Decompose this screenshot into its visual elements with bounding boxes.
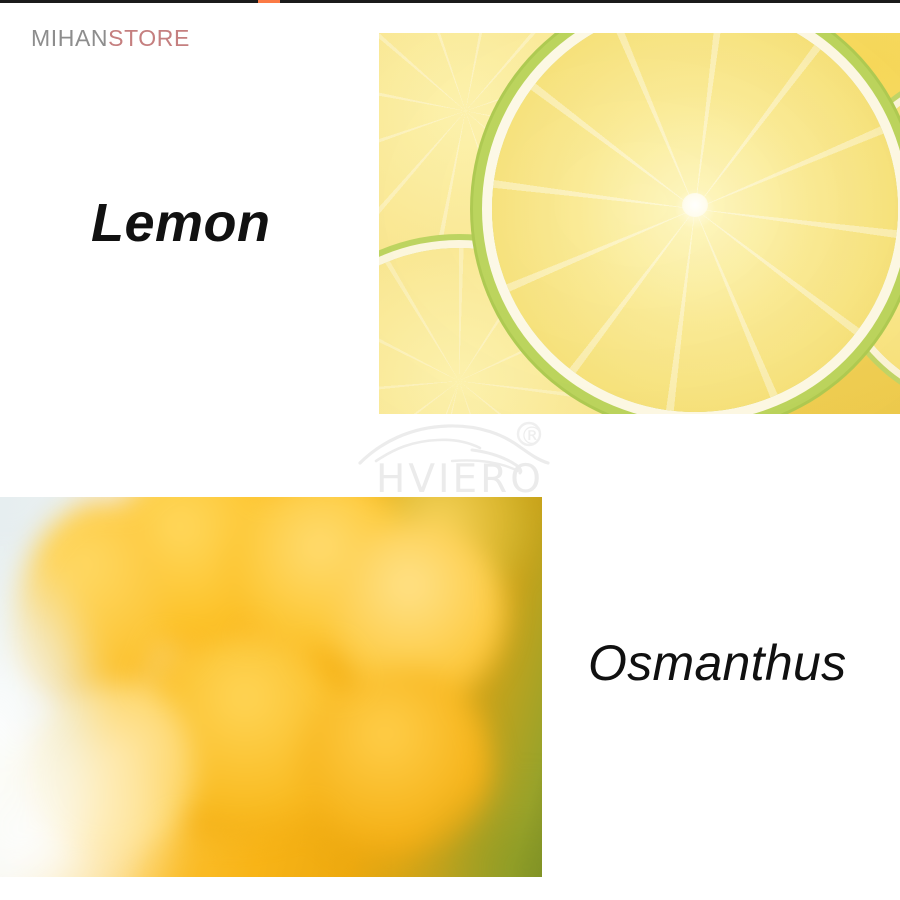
hviero-watermark: ® HVIERO	[352, 417, 568, 493]
product-detail-page: MIHANSTORE Lemon ® HVIERO	[0, 0, 900, 900]
store-watermark: MIHANSTORE	[31, 25, 190, 52]
lemon-photo-overlay	[379, 33, 900, 414]
top-edge-accent	[258, 0, 280, 3]
osmanthus-photo	[0, 497, 542, 877]
hviero-wordmark: HVIERO	[352, 457, 568, 502]
osmanthus-label: Osmanthus	[588, 634, 846, 692]
osmanthus-petal-group	[0, 497, 542, 877]
store-watermark-primary: MIHAN	[31, 25, 108, 51]
store-watermark-secondary: STORE	[108, 25, 190, 51]
lemon-photo	[379, 33, 900, 414]
registered-trademark-symbol: ®	[520, 422, 544, 450]
osmanthus-leaf-shadow	[352, 747, 542, 877]
lemon-label: Lemon	[91, 192, 271, 254]
top-edge-strip	[0, 0, 900, 3]
osmanthus-bottom-haze	[0, 717, 280, 877]
sports-car-silhouette-icon	[352, 417, 568, 493]
